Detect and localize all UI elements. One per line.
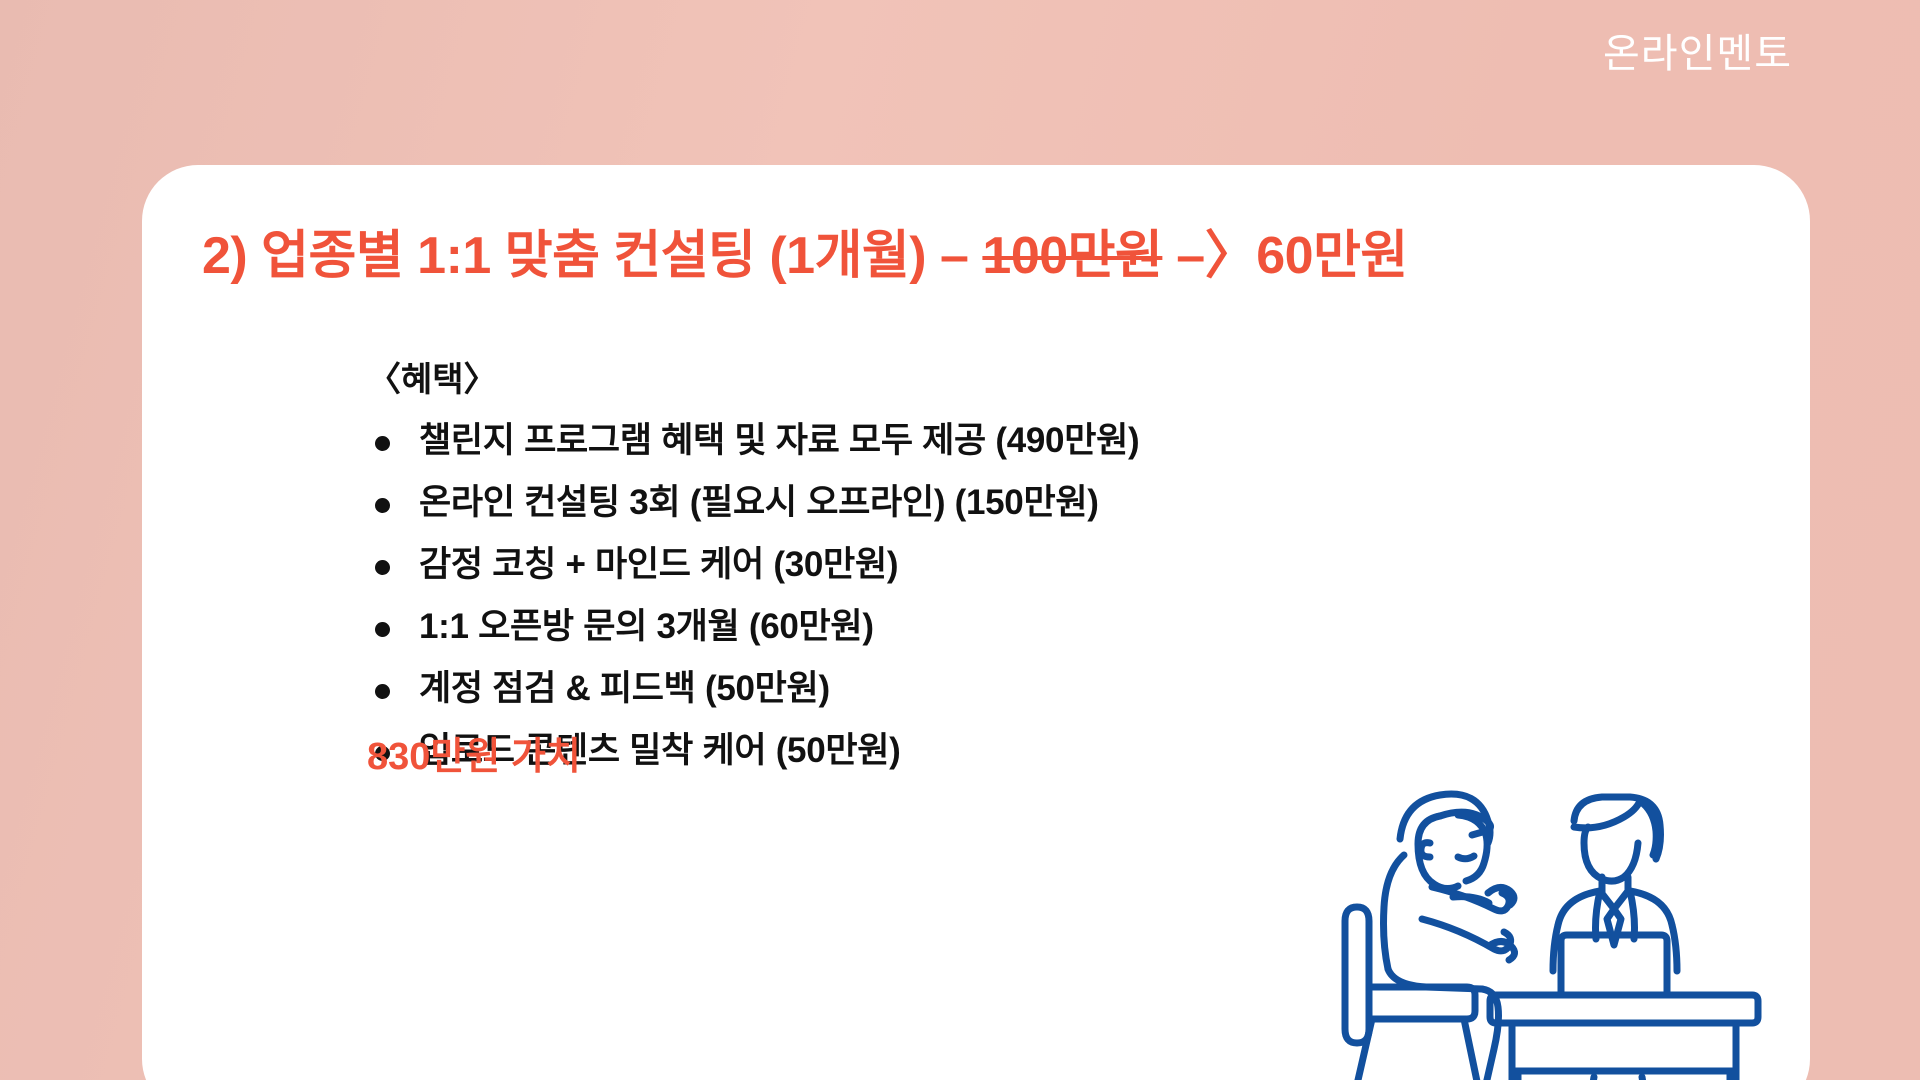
slide-title: 2) 업종별 1:1 맞춤 컨설팅 (1개월) – 100만원 –〉60만원 [202, 227, 1408, 287]
content-card: 2) 업종별 1:1 맞춤 컨설팅 (1개월) – 100만원 –〉60만원 〈… [142, 165, 1810, 1080]
benefits-heading: 〈혜택〉 [367, 360, 1547, 401]
list-item: 감정 코칭 + 마인드 케어 (30만원) [367, 547, 1547, 582]
slide-title-old-price: 100만원 [982, 227, 1162, 285]
list-item: 계정 점검 & 피드백 (50만원) [367, 671, 1547, 706]
list-item-label: 감정 코칭 + 마인드 케어 (30만원) [419, 545, 898, 584]
list-item: 1:1 오픈방 문의 3개월 (60만원) [367, 609, 1547, 644]
list-item: 온라인 컨설팅 3회 (필요시 오프라인) (150만원) [367, 485, 1547, 520]
bullet-dot-icon [375, 684, 390, 699]
benefits-section: 〈혜택〉 챌린지 프로그램 혜택 및 자료 모두 제공 (490만원) 온라인 … [367, 360, 1547, 795]
list-item: 챌린지 프로그램 혜택 및 자료 모두 제공 (490만원) [367, 423, 1547, 458]
bullet-dot-icon [375, 560, 390, 575]
total-value-text: 830만원 가치 [367, 737, 581, 779]
brand-wordmark: 온라인멘토 [1603, 34, 1792, 74]
consulting-meeting-illustration [1312, 759, 1782, 1080]
list-item-label: 1:1 오픈방 문의 3개월 (60만원) [419, 607, 874, 646]
list-item-label: 계정 점검 & 피드백 (50만원) [419, 669, 830, 708]
list-item-label: 챌린지 프로그램 혜택 및 자료 모두 제공 (490만원) [419, 421, 1139, 460]
slide-title-prefix: 2) 업종별 1:1 맞춤 컨설팅 (1개월) – [202, 227, 982, 285]
presentation-slide: 온라인멘토 2) 업종별 1:1 맞춤 컨설팅 (1개월) – 100만원 –〉… [0, 0, 1920, 1080]
bullet-dot-icon [375, 498, 390, 513]
slide-title-suffix: –〉60만원 [1162, 227, 1407, 285]
list-item-label: 온라인 컨설팅 3회 (필요시 오프라인) (150만원) [419, 483, 1099, 522]
benefits-list: 챌린지 프로그램 혜택 및 자료 모두 제공 (490만원) 온라인 컨설팅 3… [367, 423, 1547, 768]
bullet-dot-icon [375, 436, 390, 451]
bullet-dot-icon [375, 622, 390, 637]
